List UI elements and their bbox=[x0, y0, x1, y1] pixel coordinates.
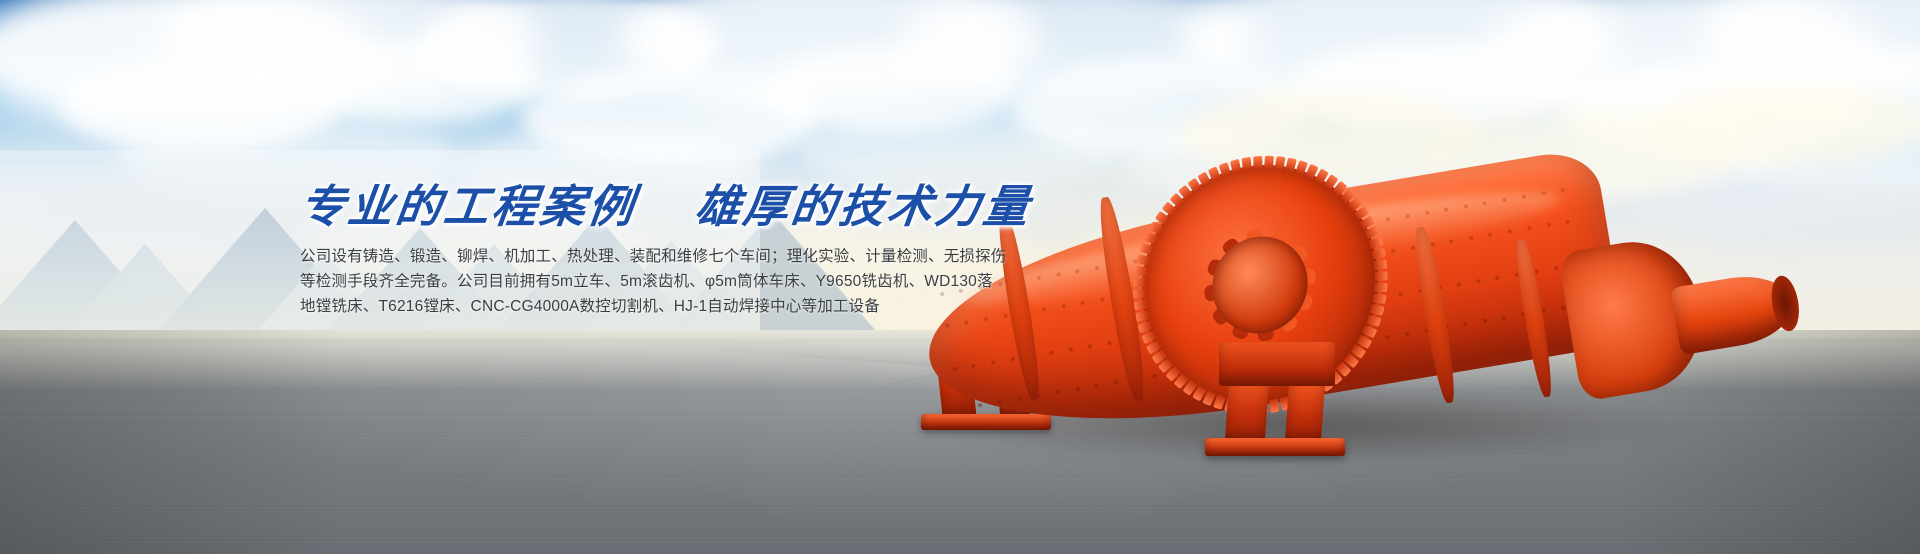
drum-rivet bbox=[998, 400, 1003, 405]
hero-banner: 专业的工程案例 雄厚的技术力量 公司设有铸造、锻造、铆焊、机加工、热处理、装配和… bbox=[0, 0, 1920, 554]
drum-rivet bbox=[1502, 315, 1507, 320]
drum-rivet bbox=[1488, 232, 1493, 237]
drum-rivet bbox=[1456, 282, 1461, 287]
drum-rivet bbox=[1541, 191, 1546, 196]
machine-pier bbox=[1219, 342, 1335, 386]
drum-rivet bbox=[1017, 396, 1022, 401]
drum-rivet bbox=[1464, 204, 1469, 209]
drum-rivet bbox=[1056, 390, 1061, 395]
drum-rivet bbox=[1153, 374, 1158, 379]
drum-rivet bbox=[1011, 357, 1016, 362]
drum-rivet bbox=[1449, 239, 1454, 244]
drum-rivet bbox=[1463, 322, 1468, 327]
nozzle-opening bbox=[1768, 274, 1803, 334]
drum-rivet bbox=[1404, 332, 1409, 337]
machine-right-leg bbox=[1225, 378, 1270, 444]
drum-rivet bbox=[945, 323, 950, 328]
drum-rivet bbox=[1483, 201, 1488, 206]
drum-rivet bbox=[1385, 217, 1390, 222]
machine-right-leg-2 bbox=[1285, 382, 1325, 444]
drum-rivet bbox=[1049, 350, 1054, 355]
drum-rivet bbox=[1391, 249, 1396, 254]
drum-rivet bbox=[1405, 214, 1410, 219]
drum-rivet bbox=[991, 360, 996, 365]
drum-rivet bbox=[1398, 292, 1403, 297]
drum-rivet bbox=[1521, 194, 1526, 199]
drum-rivet bbox=[1508, 229, 1513, 234]
machine-right-base bbox=[1205, 438, 1345, 456]
drum-rivet bbox=[952, 367, 957, 372]
drum-rivet bbox=[964, 320, 969, 325]
drum-rivet bbox=[1094, 383, 1099, 388]
drum-rivet bbox=[1566, 219, 1571, 224]
drum-rivet bbox=[1554, 266, 1559, 271]
drum-rivet bbox=[1502, 198, 1507, 203]
drum-rivet bbox=[1476, 279, 1481, 284]
drum-rivet bbox=[959, 406, 964, 411]
drum-rivet bbox=[1075, 387, 1080, 392]
drum-rivet bbox=[1469, 236, 1474, 241]
drum-rivet bbox=[1114, 380, 1119, 385]
drum-rivet bbox=[1483, 318, 1488, 323]
headline-part-2: 雄厚的技术力量 bbox=[692, 180, 1035, 233]
drum-rivet bbox=[1107, 341, 1112, 346]
banner-copy: 专业的工程案例 雄厚的技术力量 公司设有铸造、锻造、铆焊、机加工、热处理、装配和… bbox=[300, 183, 1260, 319]
drum-rivet bbox=[1527, 226, 1532, 231]
drum-rivet bbox=[1560, 305, 1565, 310]
banner-body-line-1: 公司设有铸造、锻造、铆焊、机加工、热处理、装配和维修七个车间；理化实验、计量检测… bbox=[300, 244, 1260, 269]
drum-rivet bbox=[1495, 276, 1500, 281]
cloud-puff bbox=[300, 40, 540, 124]
drum-rivet bbox=[1068, 347, 1073, 352]
drum-rivet bbox=[1088, 344, 1093, 349]
banner-body-line-2: 等检测手段齐全完备。公司目前拥有5m立车、5m滚齿机、φ5m筒体车床、Y9650… bbox=[300, 269, 1260, 294]
drum-rivet bbox=[1444, 207, 1449, 212]
banner-headline: 专业的工程案例 雄厚的技术力量 bbox=[297, 183, 1263, 230]
headline-part-1: 专业的工程案例 bbox=[297, 180, 640, 233]
drum-rivet bbox=[971, 364, 976, 369]
drum-rivet bbox=[1546, 223, 1551, 228]
drum-rivet bbox=[1425, 211, 1430, 216]
drum-rivet bbox=[978, 403, 983, 408]
drum-rivet bbox=[1385, 335, 1390, 340]
banner-body-line-3: 地镗铣床、T6216镗床、CNC-CG4000A数控切割机、HJ-1自动焊接中心… bbox=[300, 294, 1260, 319]
drum-rivet bbox=[1560, 188, 1565, 193]
drum-rivet bbox=[1410, 245, 1415, 250]
